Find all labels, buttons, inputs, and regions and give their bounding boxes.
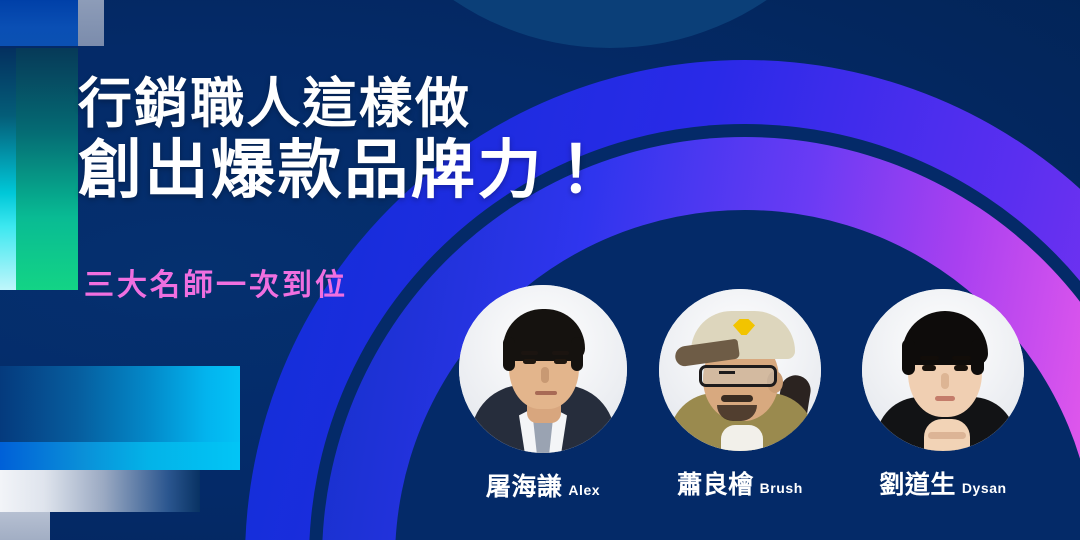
nose: [541, 367, 549, 383]
eye-right: [954, 365, 968, 371]
decor-bar-top-blue: [0, 0, 78, 46]
eye-right: [554, 359, 567, 364]
speaker-card: 屠海謙Alex: [458, 285, 628, 503]
eyeglasses: [699, 365, 777, 387]
headline-line-1: 行銷職人這樣做: [78, 76, 778, 133]
moustache: [721, 395, 753, 402]
speaker-en-name: Brush: [760, 480, 803, 496]
eyebrow-right: [552, 351, 569, 355]
speaker-cn-name: 屠海謙: [486, 473, 563, 501]
hair-side-left: [503, 337, 515, 371]
decor-bar-grey-bottom: [0, 512, 50, 540]
speaker-nameplate: 劉道生Dysan: [858, 465, 1028, 501]
fingers: [928, 432, 966, 439]
eye-left: [922, 365, 936, 371]
subtitle: 三大名師一次到位: [84, 260, 348, 304]
speaker-photo-alex: [459, 285, 627, 453]
nose: [941, 373, 949, 389]
headline-line-2: 創出爆款品牌力！: [78, 137, 778, 205]
decor-bar-green: [16, 48, 78, 290]
decor-bar-cyan-bright: [0, 442, 240, 470]
mouth: [935, 396, 955, 401]
decor-bar-cyan-wide: [0, 366, 240, 446]
decor-bar-white-fade: [0, 470, 200, 512]
marketing-banner: 行銷職人這樣做 創出爆款品牌力！ 三大名師一次到位: [0, 0, 1080, 540]
mouth: [535, 391, 557, 395]
decor-bar-top-grey: [78, 0, 104, 46]
headline-block: 行銷職人這樣做 創出爆款品牌力！: [78, 76, 778, 205]
speaker-photo-dysan: [862, 289, 1024, 451]
speaker-nameplate: 屠海謙Alex: [458, 467, 628, 503]
speaker-card: 劉道生Dysan: [858, 289, 1028, 501]
glasses-bridge: [719, 371, 735, 374]
hair-side-right: [571, 337, 583, 371]
speaker-en-name: Dysan: [962, 480, 1007, 496]
eyebrow-right: [952, 356, 971, 360]
eye-left: [523, 359, 536, 364]
speaker-photo-brush: [659, 289, 821, 451]
speakers-row: 屠海謙Alex 蕭良檜Brush: [450, 285, 1070, 525]
speaker-en-name: Alex: [568, 482, 600, 498]
hair-side-right: [971, 339, 984, 375]
white-tee: [721, 425, 763, 451]
speaker-nameplate: 蕭良檜Brush: [655, 465, 825, 501]
speaker-card: 蕭良檜Brush: [655, 289, 825, 501]
hair-side-left: [902, 339, 915, 375]
eyebrow-left: [521, 351, 538, 355]
eyebrow-left: [920, 356, 939, 360]
speaker-cn-name: 劉道生: [879, 471, 956, 499]
speaker-cn-name: 蕭良檜: [677, 471, 754, 499]
